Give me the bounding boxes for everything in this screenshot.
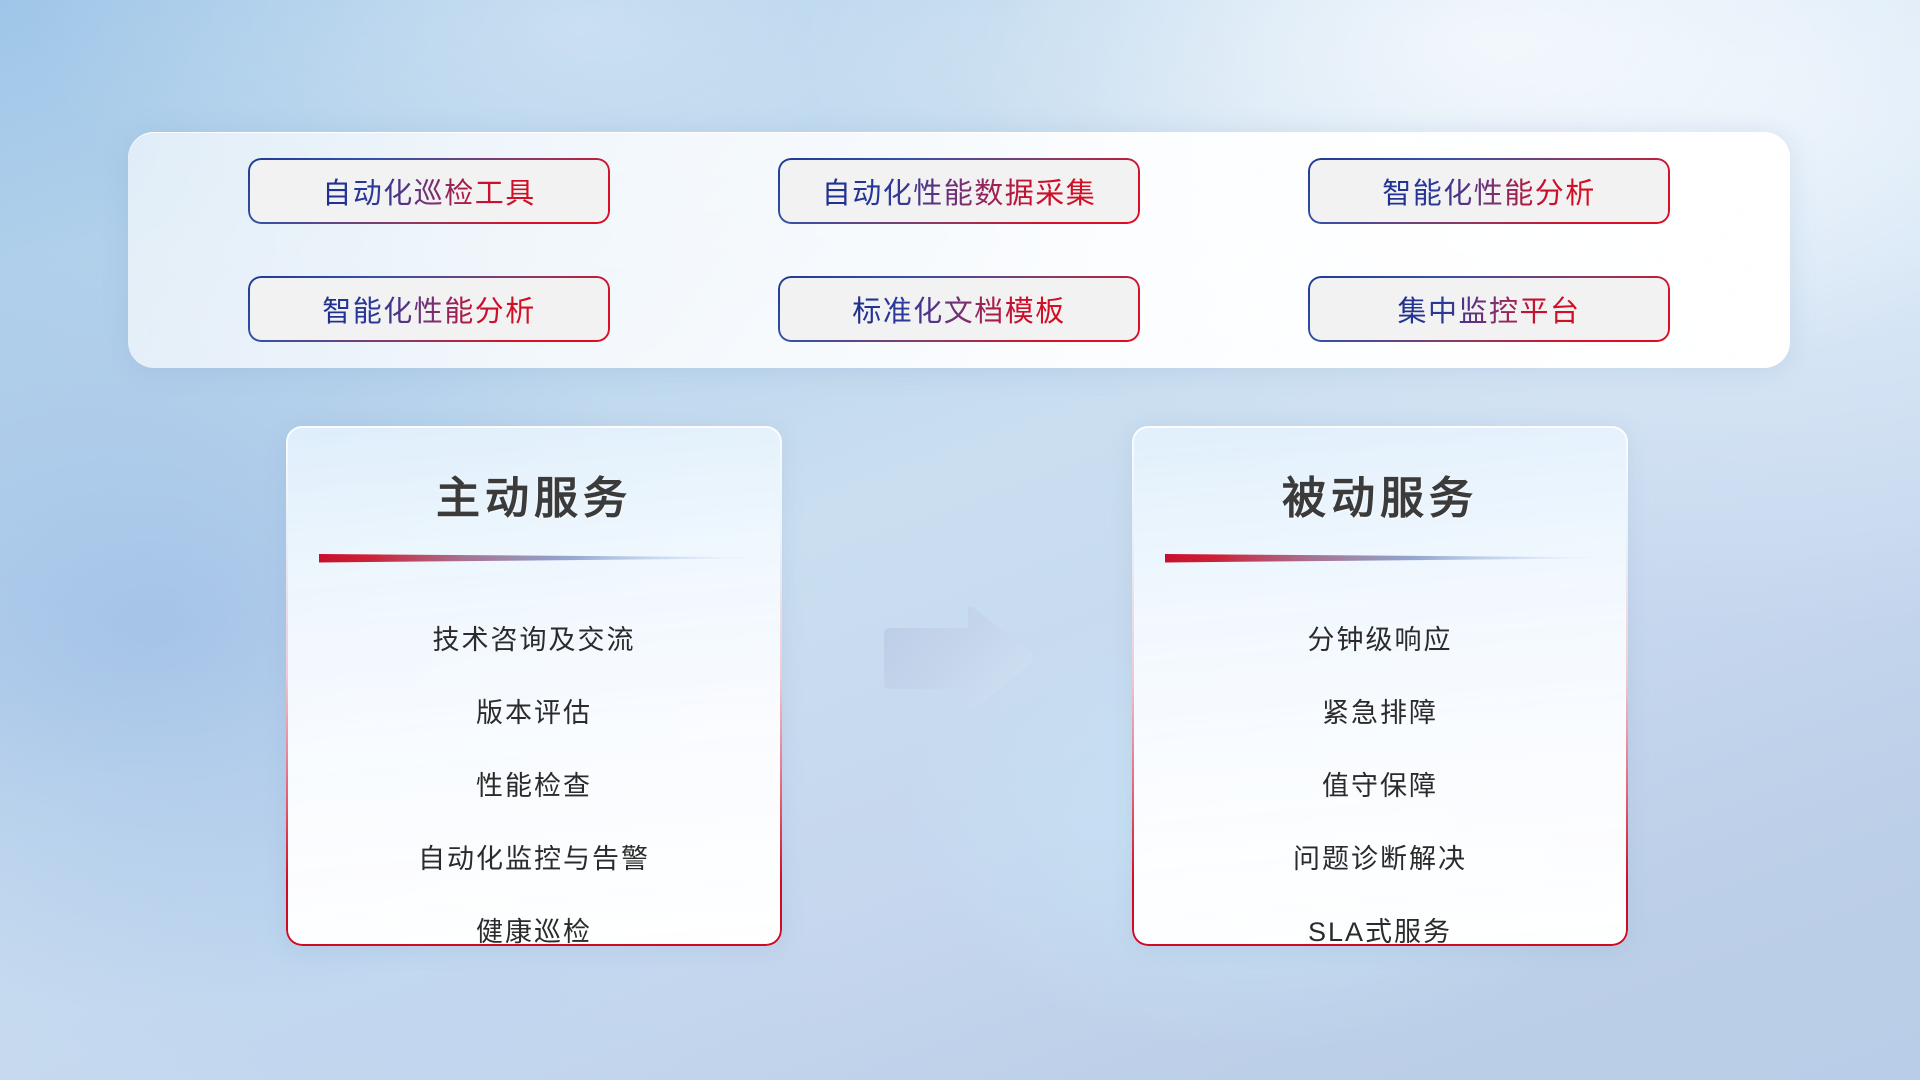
card-title: 被动服务 — [1132, 462, 1628, 526]
card-title-divider — [1165, 552, 1595, 563]
slide-canvas: 自动化巡检工具 自动化性能数据采集 智能化性能分析 智能化性能分析 标准化文档模… — [0, 0, 1920, 1080]
chip-label: 自动化性能数据采集 — [822, 170, 1097, 212]
chip-label: 自动化巡检工具 — [322, 170, 536, 212]
chip-label: 智能化性能分析 — [322, 288, 536, 330]
list-item[interactable]: 值守保障 — [1132, 747, 1628, 820]
capability-chip-intelligent-performance-analysis-1[interactable]: 智能化性能分析 — [1310, 160, 1668, 222]
list-item[interactable]: 健康巡检 — [286, 893, 782, 966]
list-item[interactable]: 问题诊断解决 — [1132, 820, 1628, 893]
card-title-divider — [319, 552, 749, 563]
capabilities-panel: 自动化巡检工具 自动化性能数据采集 智能化性能分析 智能化性能分析 标准化文档模… — [128, 132, 1790, 368]
list-item[interactable]: 自动化监控与告警 — [286, 820, 782, 893]
chip-label: 智能化性能分析 — [1382, 170, 1596, 212]
service-card-proactive[interactable]: 主动服务 技术咨询及交流 版本评估 性能检查 — [286, 426, 782, 946]
card-title: 主动服务 — [286, 462, 782, 526]
list-item[interactable]: 技术咨询及交流 — [286, 601, 782, 674]
capability-chip-centralized-monitoring-platform[interactable]: 集中监控平台 — [1310, 278, 1668, 340]
list-item[interactable]: SLA式服务 — [1132, 893, 1628, 966]
list-item[interactable]: 版本评估 — [286, 674, 782, 747]
list-item[interactable]: 紧急排障 — [1132, 674, 1628, 747]
capability-chip-automated-inspection-tool[interactable]: 自动化巡检工具 — [250, 160, 608, 222]
chip-label: 标准化文档模板 — [852, 288, 1066, 330]
service-card-reactive[interactable]: 被动服务 分钟级响应 紧急排障 值守保障 — [1132, 426, 1628, 946]
service-item-list: 分钟级响应 紧急排障 值守保障 问题诊断解决 SLA式服务 — [1132, 563, 1628, 966]
capability-chip-intelligent-performance-analysis-2[interactable]: 智能化性能分析 — [250, 278, 608, 340]
list-item[interactable]: 性能检查 — [286, 747, 782, 820]
list-item[interactable]: 分钟级响应 — [1132, 601, 1628, 674]
capability-chip-automated-performance-data-collection[interactable]: 自动化性能数据采集 — [780, 160, 1138, 222]
chip-label: 集中监控平台 — [1397, 288, 1580, 330]
arrow-right-icon — [874, 604, 1036, 714]
service-item-list: 技术咨询及交流 版本评估 性能检查 自动化监控与告警 健康巡检 — [286, 563, 782, 966]
capability-chip-standardized-document-template[interactable]: 标准化文档模板 — [780, 278, 1138, 340]
